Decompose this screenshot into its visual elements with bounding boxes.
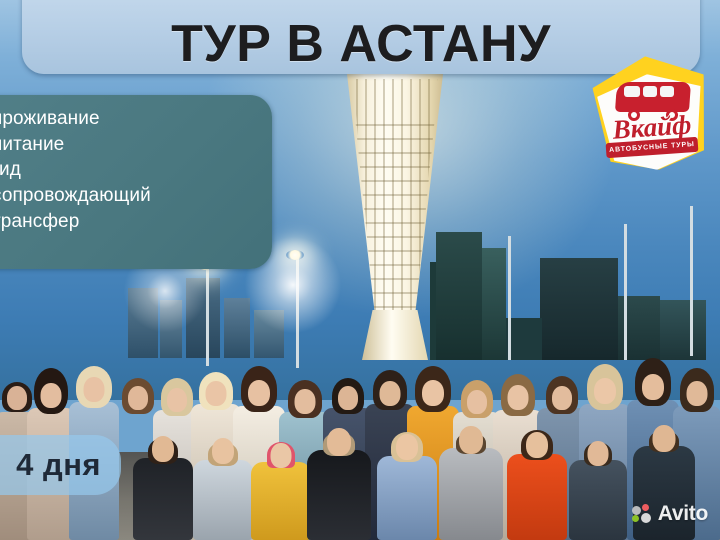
tour-advertisement-poster: ТУР В АСТАНУ проживание питание гид сопр… xyxy=(0,0,720,540)
avito-wordmark: Avito xyxy=(658,502,708,526)
logo-tagline: АВТОБУСНЫЕ ТУРЫ xyxy=(609,141,695,154)
duration-badge: 4 дня xyxy=(0,435,121,495)
feature-item-guide: гид xyxy=(0,157,272,183)
feature-item-transfer: трансфер xyxy=(0,209,272,235)
features-panel: проживание питание гид сопровождающий тр… xyxy=(0,95,272,269)
person xyxy=(250,430,312,540)
feature-item-accommodation: проживание xyxy=(0,106,272,132)
company-logo[interactable]: Вкайф АВТОБУСНЫЕ ТУРЫ xyxy=(594,52,710,174)
tower-body xyxy=(347,74,443,322)
tour-group-crowd xyxy=(0,300,720,540)
bus-window xyxy=(624,86,640,97)
person xyxy=(132,426,194,540)
duration-badge-label: 4 дня xyxy=(16,447,101,483)
page-title: ТУР В АСТАНУ xyxy=(171,18,551,70)
person xyxy=(438,414,504,540)
person xyxy=(192,428,254,540)
person xyxy=(506,422,568,540)
person xyxy=(568,428,628,540)
bus-window xyxy=(660,86,674,97)
bus-window xyxy=(643,86,657,97)
features-list: проживание питание гид сопровождающий тр… xyxy=(0,106,272,235)
person xyxy=(376,424,438,540)
person xyxy=(306,416,372,540)
feature-item-escort: сопровождающий xyxy=(0,183,272,209)
feature-item-meals: питание xyxy=(0,132,272,158)
avito-dots-icon xyxy=(632,504,654,524)
avito-watermark: Avito xyxy=(632,502,708,526)
